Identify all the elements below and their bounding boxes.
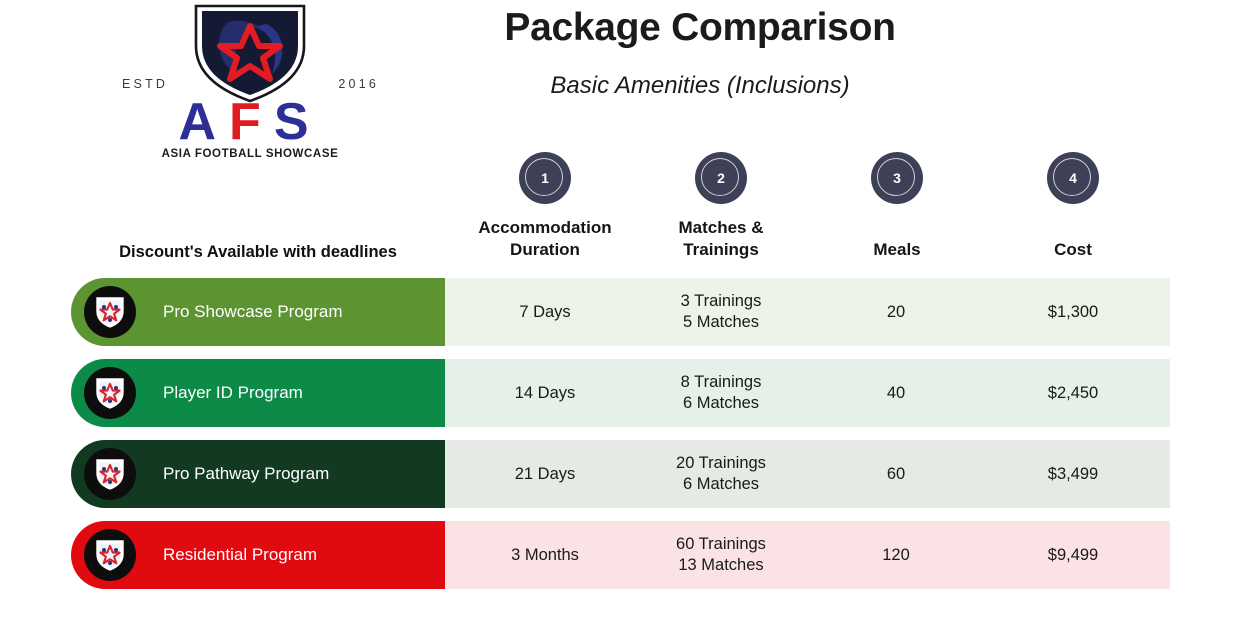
cell-duration: 14 Days (457, 359, 633, 427)
cell-duration-value: 21 Days (515, 464, 576, 485)
cell-cost: $9,499 (985, 521, 1161, 589)
program-name: Pro Showcase Program (163, 278, 343, 346)
table-row[interactable]: Player ID Program 14 Days 8 Trainings 6 … (71, 359, 1170, 427)
page-header: ESTD 2016 AFS ASIA FOOTBALL SHOWCASE Pac… (0, 0, 1240, 150)
cell-meals: 20 (808, 278, 984, 346)
afs-logo: ESTD 2016 AFS ASIA FOOTBALL SHOWCASE (120, 0, 380, 168)
column-title-3: Meals (809, 239, 985, 261)
cell-matches-value: 5 Matches (683, 312, 759, 333)
shield-crest-icon (180, 0, 320, 105)
column-number-2: 2 (695, 152, 747, 204)
program-name: Pro Pathway Program (163, 440, 329, 508)
cell-meals-value: 40 (887, 383, 905, 404)
column-number-badge-1: 1 (519, 152, 571, 204)
logo-letter-a: A (178, 93, 229, 151)
program-crest-icon (84, 448, 136, 500)
column-number-badge-3: 3 (871, 152, 923, 204)
column-title-2: Matches & Trainings (633, 217, 809, 261)
logo-letter-f: F (229, 93, 274, 151)
program-name: Player ID Program (163, 359, 303, 427)
cell-cost-value: $1,300 (1048, 302, 1098, 323)
cell-matches-trainings: 20 Trainings 6 Matches (633, 440, 809, 508)
cell-cost: $3,499 (985, 440, 1161, 508)
logo-afs-letters: AFS (120, 95, 380, 149)
program-crest-icon (84, 529, 136, 581)
cell-meals: 60 (808, 440, 984, 508)
cell-meals-value: 120 (882, 545, 910, 566)
cell-duration: 3 Months (457, 521, 633, 589)
cell-cost-value: $2,450 (1048, 383, 1098, 404)
logo-tagline: ASIA FOOTBALL SHOWCASE (120, 148, 380, 160)
cell-meals-value: 60 (887, 464, 905, 485)
table-row[interactable]: Residential Program 3 Months 60 Training… (71, 521, 1170, 589)
row-pill[interactable]: Residential Program (71, 521, 445, 589)
column-number-badge-2: 2 (695, 152, 747, 204)
cell-cost: $2,450 (985, 359, 1161, 427)
logo-year-text: 2016 (338, 77, 379, 91)
row-pill[interactable]: Player ID Program (71, 359, 445, 427)
column-title-1: Accommodation Duration (457, 217, 633, 261)
page-title: Package Comparison (400, 6, 1000, 50)
cell-duration-value: 14 Days (515, 383, 576, 404)
column-header-3: 3 Meals (809, 152, 985, 261)
row-pill[interactable]: Pro Showcase Program (71, 278, 445, 346)
column-title-1-line2: Duration (457, 239, 633, 261)
column-title-2-line1: Matches & (633, 217, 809, 239)
column-header-2: 2 Matches & Trainings (633, 152, 809, 261)
discount-availability-label: Discount's Available with deadlines (71, 243, 445, 262)
column-number-3: 3 (871, 152, 923, 204)
cell-duration: 7 Days (457, 278, 633, 346)
page-subtitle: Basic Amenities (Inclusions) (400, 72, 1000, 100)
column-number-1: 1 (519, 152, 571, 204)
column-header-4: 4 Cost (985, 152, 1161, 261)
column-header-1: 1 Accommodation Duration (457, 152, 633, 261)
program-crest-icon (84, 367, 136, 419)
column-title-1-line1: Accommodation (457, 217, 633, 239)
column-title-2-line2: Trainings (633, 239, 809, 261)
cell-trainings-value: 60 Trainings (676, 534, 766, 555)
column-number-4: 4 (1047, 152, 1099, 204)
cell-matches-trainings: 8 Trainings 6 Matches (633, 359, 809, 427)
cell-duration-value: 3 Months (511, 545, 579, 566)
cell-trainings-value: 8 Trainings (681, 372, 762, 393)
column-title-4-line1: Cost (985, 239, 1161, 261)
column-title-4: Cost (985, 239, 1161, 261)
column-number-badge-4: 4 (1047, 152, 1099, 204)
column-title-3-line1: Meals (809, 239, 985, 261)
cell-meals: 40 (808, 359, 984, 427)
cell-duration-value: 7 Days (519, 302, 570, 323)
cell-cost-value: $9,499 (1048, 545, 1098, 566)
logo-estd-text: ESTD (122, 77, 168, 91)
cell-matches-trainings: 3 Trainings 5 Matches (633, 278, 809, 346)
cell-trainings-value: 20 Trainings (676, 453, 766, 474)
cell-matches-value: 13 Matches (678, 555, 763, 576)
cell-meals: 120 (808, 521, 984, 589)
cell-matches-value: 6 Matches (683, 393, 759, 414)
program-name: Residential Program (163, 521, 317, 589)
logo-letter-s: S (274, 93, 322, 151)
cell-duration: 21 Days (457, 440, 633, 508)
cell-meals-value: 20 (887, 302, 905, 323)
cell-cost-value: $3,499 (1048, 464, 1098, 485)
table-row[interactable]: Pro Pathway Program 21 Days 20 Trainings… (71, 440, 1170, 508)
cell-matches-value: 6 Matches (683, 474, 759, 495)
table-row[interactable]: Pro Showcase Program 7 Days 3 Trainings … (71, 278, 1170, 346)
row-pill[interactable]: Pro Pathway Program (71, 440, 445, 508)
program-crest-icon (84, 286, 136, 338)
cell-cost: $1,300 (985, 278, 1161, 346)
cell-trainings-value: 3 Trainings (681, 291, 762, 312)
cell-matches-trainings: 60 Trainings 13 Matches (633, 521, 809, 589)
